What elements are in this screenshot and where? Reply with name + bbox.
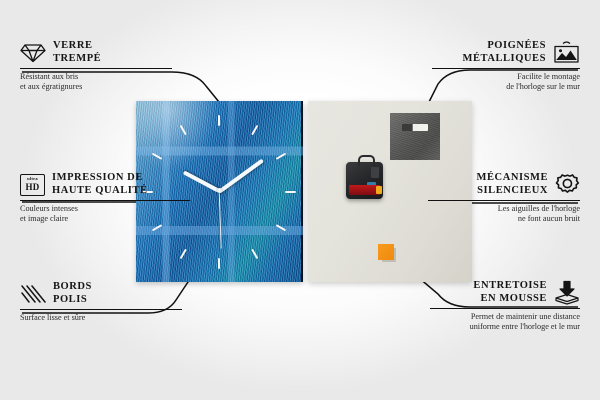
callout-subtitle: Couleurs intenses et image claire [20,204,190,224]
clock-tick [285,191,296,193]
ultra-hd-icon: ultra HD [20,174,45,196]
callout-title: IMPRESSION DE HAUTE QUALITÉ [52,172,148,197]
callout-header: POIGNÉES MÉTALLIQUES [432,40,580,65]
metal-hanger-plate [390,113,440,160]
infographic-canvas: VERRE TREMPÉ Résistant aux bris et aux é… [0,0,600,400]
clock-tick [180,125,187,136]
battery [349,185,380,195]
diamond-icon [20,42,46,63]
callout-header: VERRE TREMPÉ [20,40,172,65]
gear-icon [555,173,580,197]
picture-hook-icon [553,41,580,64]
callout-header: BORDS POLIS [20,281,182,306]
callout-title: MÉCANISME SILENCIEUX [477,172,548,197]
mechanism-chip [371,167,379,178]
clock-center-cap [217,188,222,193]
callout-subtitle: Les aiguilles de l'horloge ne font aucun… [428,204,580,224]
callout-subtitle: Résistant aux bris et aux égratignures [20,72,172,92]
clock-second-hand [218,191,221,249]
callout-rule [432,68,580,69]
clock-tick [152,153,163,160]
callout-title: ENTRETOISE EN MOUSSE [473,280,547,305]
callout-rule [20,68,172,69]
mechanism-hook [358,155,375,166]
callout-rule [20,309,182,310]
foam-spacer-icon [554,280,580,305]
callout-poignees-metalliques: POIGNÉES MÉTALLIQUES Facilite le montage… [432,40,580,92]
callout-header: ultra HD IMPRESSION DE HAUTE QUALITÉ [20,172,190,197]
clock-mechanism [346,162,383,199]
callout-title: POIGNÉES MÉTALLIQUES [463,40,546,65]
clock-tick [276,153,287,160]
foam-spacer [378,244,394,260]
callout-subtitle: Permet de maintenir une distance uniform… [430,312,580,332]
clock-tick [276,224,287,231]
clock-tick [152,224,163,231]
hanger-slot [402,124,428,131]
callout-subtitle: Facilite le montage de l'horloge sur le … [432,72,580,92]
callout-rule [428,200,580,201]
callout-rule [20,200,190,201]
clock-tick [180,249,187,260]
clock-minute-hand [218,158,264,193]
callout-header: MÉCANISME SILENCIEUX [428,172,580,197]
polished-edges-icon [20,283,46,304]
clock-tick [251,125,258,136]
ultra-hd-icon-main-label: HD [25,183,39,192]
callout-impression-haute-qualite: ultra HD IMPRESSION DE HAUTE QUALITÉ Cou… [20,172,190,224]
callout-subtitle: Surface lisse et sûre [20,313,182,323]
callout-header: ENTRETOISE EN MOUSSE [430,280,580,305]
callout-title: VERRE TREMPÉ [53,40,101,65]
clock-tick [218,115,220,126]
callout-rule [430,308,580,309]
callout-mecanisme-silencieux: MÉCANISME SILENCIEUX Les aiguilles de l'… [428,172,580,224]
callout-bords-polis: BORDS POLIS Surface lisse et sûre [20,281,182,323]
callout-verre-trempe: VERRE TREMPÉ Résistant aux bris et aux é… [20,40,172,92]
callout-entretoise-en-mousse: ENTRETOISE EN MOUSSE Permet de maintenir… [430,280,580,332]
callout-title: BORDS POLIS [53,281,92,306]
clock-tick [251,249,258,260]
clock-tick [218,258,220,269]
